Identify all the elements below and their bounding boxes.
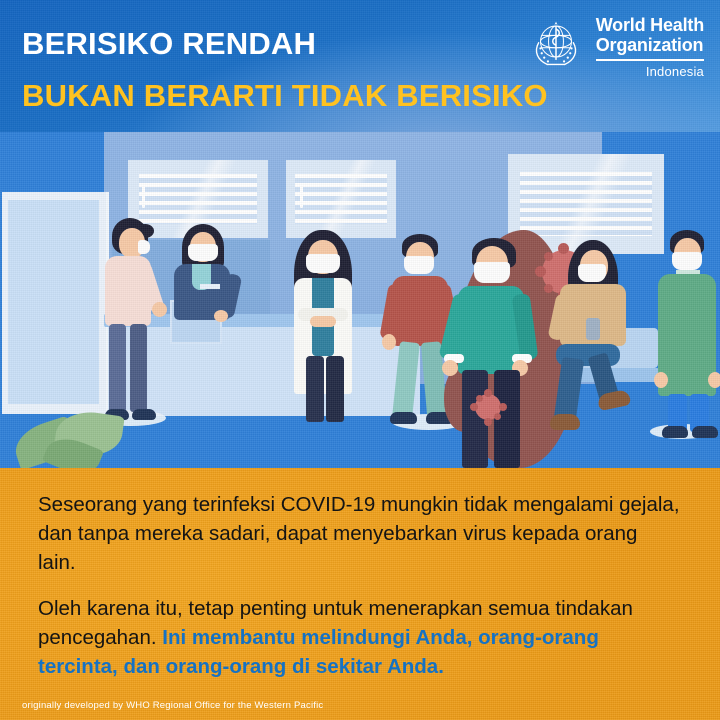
- leg: [306, 356, 324, 422]
- who-logo-text: World Health Organization Indonesia: [596, 13, 704, 79]
- reception-desk: [108, 320, 420, 416]
- virus-particle: [475, 394, 501, 420]
- shoe: [662, 426, 688, 438]
- shoe: [550, 414, 580, 430]
- message-panel: Seseorang yang terinfeksi COVID-19 mungk…: [0, 468, 720, 720]
- leg: [130, 324, 147, 412]
- paragraph-primary: Seseorang yang terinfeksi COVID-19 mungk…: [38, 490, 680, 577]
- face-mask: [404, 256, 434, 274]
- poster-root: BERISIKO RENDAH BUKAN BERARTI TIDAK BERI…: [0, 0, 720, 720]
- who-logo-line1: World Health: [596, 15, 704, 35]
- leg: [109, 324, 126, 412]
- face-mask: [188, 244, 218, 261]
- window-handle: [300, 186, 303, 208]
- face-mask: [306, 254, 340, 273]
- reception-desk-counter: [104, 314, 424, 327]
- page-title-line1: BERISIKO RENDAH: [22, 26, 316, 62]
- hands: [310, 316, 336, 327]
- header-banner: BERISIKO RENDAH BUKAN BERARTI TIDAK BERI…: [0, 0, 720, 132]
- shoe: [390, 412, 417, 424]
- face-mask: [138, 240, 150, 254]
- shoe: [692, 426, 718, 438]
- window-center: [286, 160, 396, 238]
- leg: [326, 356, 344, 422]
- who-emblem-icon: [525, 13, 587, 75]
- page-title-line2: BUKAN BERARTI TIDAK BERISIKO: [22, 78, 548, 114]
- who-logo: World Health Organization Indonesia: [525, 13, 704, 79]
- who-logo-country: Indonesia: [596, 64, 704, 79]
- illustration-waiting-room: [0, 132, 720, 468]
- face-mask: [578, 264, 606, 282]
- who-logo-divider: [596, 59, 704, 61]
- hand: [214, 310, 228, 322]
- paragraph-secondary: Oleh karena itu, tetap penting untuk men…: [38, 594, 680, 681]
- hand: [708, 372, 720, 388]
- hand: [382, 334, 396, 350]
- hand: [442, 360, 458, 376]
- credit-line: originally developed by WHO Regional Off…: [22, 700, 323, 711]
- face-mask: [672, 252, 702, 270]
- window-handle: [142, 186, 145, 208]
- hand: [654, 372, 668, 388]
- hand: [152, 302, 167, 317]
- door-glass-panel: [8, 200, 99, 404]
- shoe: [132, 409, 156, 420]
- glass-door: [2, 192, 109, 414]
- face-mask: [474, 262, 510, 283]
- who-logo-line2: Organization: [596, 35, 704, 55]
- phone-icon: [586, 318, 600, 340]
- name-badge: [200, 284, 220, 289]
